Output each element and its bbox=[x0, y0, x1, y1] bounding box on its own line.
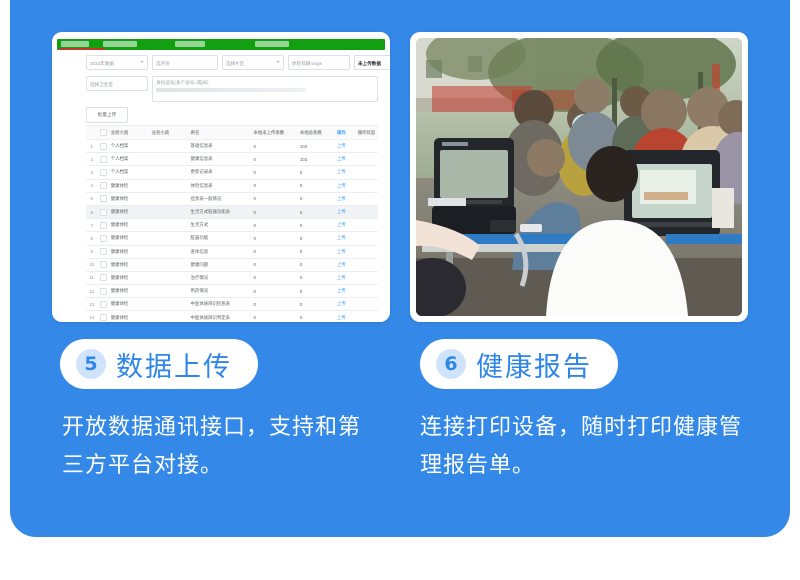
nav-item-0[interactable] bbox=[61, 41, 89, 47]
nav-item-3[interactable] bbox=[255, 41, 289, 47]
app-content: 2024年数据 选月份 选择片区 体检日期range 未上传数据 选择卫生室 身… bbox=[52, 52, 390, 322]
row-table-name: 查体信息 bbox=[189, 249, 252, 255]
row-index: 3 bbox=[86, 170, 97, 175]
row-table-name: 健康信息表 bbox=[189, 156, 252, 162]
row-total-count: 0 bbox=[298, 223, 335, 228]
row-checkbox[interactable] bbox=[97, 169, 108, 176]
row-index: 12 bbox=[86, 289, 97, 294]
row-category: 健康体检 bbox=[109, 275, 150, 281]
row-table-name: 生活方式 bbox=[189, 222, 252, 228]
row-checkbox[interactable] bbox=[97, 156, 108, 163]
row-checkbox[interactable] bbox=[97, 261, 108, 268]
nav-item-1[interactable] bbox=[103, 41, 137, 47]
row-upload-link[interactable]: 上传 bbox=[335, 315, 356, 321]
section-6-title-pill: 6 健康报告 bbox=[420, 339, 618, 389]
promo-page: 2024年数据 选月份 选择片区 体检日期range 未上传数据 选择卫生室 身… bbox=[0, 0, 800, 580]
row-category: 健康体检 bbox=[109, 222, 150, 228]
row-total-count: 0 bbox=[298, 289, 335, 294]
row-total-count: 0 bbox=[298, 196, 335, 201]
clinic-select[interactable]: 选择卫生室 bbox=[86, 76, 148, 91]
row-pending-count: 0 bbox=[251, 157, 297, 162]
row-total-count: 0 bbox=[298, 210, 335, 215]
area-select[interactable]: 选择片区 bbox=[222, 55, 284, 70]
id-number-textarea[interactable]: 身份证号(多个逗号=隔)如: bbox=[152, 76, 378, 102]
row-pending-count: 0 bbox=[251, 210, 297, 215]
row-category: 健康体检 bbox=[109, 183, 150, 189]
table-row[interactable]: 3个人档案更新记录表00上传 bbox=[86, 166, 378, 179]
section-5-title-pill: 5 数据上传 bbox=[60, 339, 258, 389]
section-6-body: 连接打印设备，随时打印健康管理报告单。 bbox=[420, 409, 750, 485]
table-row[interactable]: 8健康体检脏器功能00上传 bbox=[86, 232, 378, 245]
row-table-name: 脏器功能 bbox=[189, 235, 252, 241]
row-category: 健康体检 bbox=[109, 301, 150, 307]
row-category: 健康体检 bbox=[109, 262, 150, 268]
row-checkbox[interactable] bbox=[97, 274, 108, 281]
row-pending-count: 0 bbox=[251, 302, 297, 307]
th-subcategory: 业务小类 bbox=[150, 130, 189, 136]
id-number-placeholder: 身份证号(多个逗号=隔)如: bbox=[156, 80, 209, 85]
row-table-name: 基础信息表 bbox=[189, 143, 252, 149]
row-index: 5 bbox=[86, 196, 97, 201]
date-range-input[interactable]: 体检日期range bbox=[288, 55, 350, 70]
row-pending-count: 0 bbox=[251, 315, 297, 320]
row-table-name: 用药情况 bbox=[189, 288, 252, 294]
filter-bar: 2024年数据 选月份 选择片区 体检日期range 未上传数据 bbox=[86, 55, 378, 72]
row-index: 14 bbox=[86, 315, 97, 320]
row-index: 7 bbox=[86, 223, 97, 228]
row-upload-link[interactable]: 上传 bbox=[335, 196, 356, 202]
table-row[interactable]: 12健康体检用药情况00上传 bbox=[86, 285, 378, 298]
th-category: 业务大类 bbox=[109, 130, 150, 136]
row-checkbox[interactable] bbox=[97, 248, 108, 255]
section-5-body: 开放数据通讯接口，支持和第三方平台对接。 bbox=[62, 409, 382, 485]
row-checkbox[interactable] bbox=[97, 143, 108, 150]
table-row[interactable]: 7健康体检生活方式00上传 bbox=[86, 219, 378, 232]
table-row[interactable]: 9健康体检查体信息00上传 bbox=[86, 246, 378, 259]
section-6-number: 6 bbox=[436, 349, 466, 379]
row-index: 8 bbox=[86, 236, 97, 241]
select-all-checkbox[interactable] bbox=[97, 129, 108, 136]
row-pending-count: 0 bbox=[251, 144, 297, 149]
app-navbar bbox=[57, 39, 385, 50]
batch-upload-button[interactable]: 批量上传 bbox=[86, 107, 128, 123]
row-category: 健康体检 bbox=[109, 209, 150, 215]
row-total-count: 0 bbox=[298, 262, 335, 267]
upload-status-select[interactable]: 未上传数据 bbox=[354, 55, 390, 70]
row-checkbox[interactable] bbox=[97, 222, 108, 229]
row-checkbox[interactable] bbox=[97, 195, 108, 202]
section-6-title: 健康报告 bbox=[476, 345, 592, 384]
table-body: 1个人档案基础信息表0103上传2个人档案健康信息表0103上传3个人档案更新记… bbox=[86, 140, 378, 322]
row-table-name: 治疗情况 bbox=[189, 275, 252, 281]
row-table-name: 体检信息表 bbox=[189, 183, 252, 189]
row-table-name: 中医体质辨识检查表 bbox=[189, 301, 252, 307]
row-index: 1 bbox=[86, 144, 97, 149]
row-upload-link[interactable]: 上传 bbox=[335, 169, 356, 175]
row-index: 11 bbox=[86, 275, 97, 280]
th-pending: 本地未上传条数 bbox=[251, 130, 297, 136]
row-upload-link[interactable]: 上传 bbox=[335, 275, 356, 281]
row-total-count: 0 bbox=[298, 302, 335, 307]
row-upload-link[interactable]: 上传 bbox=[335, 288, 356, 294]
row-category: 个人档案 bbox=[109, 169, 150, 175]
year-select[interactable]: 2024年数据 bbox=[86, 55, 148, 70]
row-category: 健康体检 bbox=[109, 315, 150, 321]
row-category: 健康体检 bbox=[109, 235, 150, 241]
app-screenshot-card: 2024年数据 选月份 选择片区 体检日期range 未上传数据 选择卫生室 身… bbox=[52, 32, 390, 322]
row-category: 健康体检 bbox=[109, 288, 150, 294]
row-upload-link[interactable]: 上传 bbox=[335, 143, 356, 149]
row-pending-count: 0 bbox=[251, 223, 297, 228]
table-row[interactable]: 11健康体检治疗情况00上传 bbox=[86, 272, 378, 285]
row-total-count: 103 bbox=[298, 157, 335, 162]
table-row[interactable]: 14健康体检中医体质辨识判定表00上传 bbox=[86, 311, 378, 322]
row-index: 4 bbox=[86, 183, 97, 188]
row-table-name: 健康问题 bbox=[189, 262, 252, 268]
table-row[interactable]: 2个人档案健康信息表0103上传 bbox=[86, 153, 378, 166]
data-upload-app: 2024年数据 选月份 选择片区 体检日期range 未上传数据 选择卫生室 身… bbox=[52, 32, 390, 322]
nav-active-underline bbox=[59, 48, 105, 50]
th-total: 本地总条数 bbox=[298, 130, 335, 136]
row-checkbox[interactable] bbox=[97, 182, 108, 189]
row-total-count: 0 bbox=[298, 183, 335, 188]
id-search-row: 选择卫生室 身份证号(多个逗号=隔)如: bbox=[86, 76, 378, 102]
section-5-number: 5 bbox=[76, 349, 106, 379]
row-total-count: 0 bbox=[298, 249, 335, 254]
th-table-name: 表名 bbox=[189, 130, 252, 136]
row-index: 9 bbox=[86, 249, 97, 254]
row-table-name: 更新记录表 bbox=[189, 169, 252, 175]
row-upload-link[interactable]: 上传 bbox=[335, 222, 356, 228]
table-row[interactable]: 10健康体检健康问题00上传 bbox=[86, 259, 378, 272]
row-index: 10 bbox=[86, 262, 97, 267]
upload-table: 业务大类 业务小类 表名 本地未上传条数 本地总条数 操作 操作状态 1个人档案… bbox=[86, 125, 378, 315]
row-upload-link[interactable]: 上传 bbox=[335, 235, 356, 241]
row-total-count: 0 bbox=[298, 275, 335, 280]
table-row[interactable]: 4健康体检体检信息表00上传 bbox=[86, 180, 378, 193]
row-upload-link[interactable]: 上传 bbox=[335, 183, 356, 189]
row-checkbox[interactable] bbox=[97, 209, 108, 216]
row-upload-link[interactable]: 上传 bbox=[335, 249, 356, 255]
nav-item-2[interactable] bbox=[175, 41, 205, 47]
month-select[interactable]: 选月份 bbox=[152, 55, 218, 70]
row-pending-count: 0 bbox=[251, 183, 297, 188]
row-upload-link[interactable]: 上传 bbox=[335, 209, 356, 215]
photo-card bbox=[410, 32, 748, 322]
th-status: 操作状态 bbox=[356, 130, 378, 136]
row-index: 2 bbox=[86, 157, 97, 162]
row-pending-count: 0 bbox=[251, 275, 297, 280]
row-total-count: 103 bbox=[298, 144, 335, 149]
id-text-blur bbox=[156, 88, 306, 92]
row-checkbox[interactable] bbox=[97, 314, 108, 321]
row-category: 健康体检 bbox=[109, 196, 150, 202]
row-checkbox[interactable] bbox=[97, 288, 108, 295]
row-upload-link[interactable]: 上传 bbox=[335, 262, 356, 268]
row-upload-link[interactable]: 上传 bbox=[335, 156, 356, 162]
row-pending-count: 0 bbox=[251, 196, 297, 201]
row-category: 健康体检 bbox=[109, 249, 150, 255]
row-total-count: 0 bbox=[298, 236, 335, 241]
row-index: 13 bbox=[86, 302, 97, 307]
table-row[interactable]: 13健康体检中医体质辨识检查表00上传 bbox=[86, 298, 378, 311]
section-5-title: 数据上传 bbox=[116, 345, 232, 384]
table-row[interactable]: 5健康体检症状表一般情况00上传 bbox=[86, 193, 378, 206]
table-row[interactable]: 1个人档案基础信息表0103上传 bbox=[86, 140, 378, 153]
row-pending-count: 0 bbox=[251, 170, 297, 175]
th-operation: 操作 bbox=[335, 130, 356, 136]
table-row[interactable]: 6健康体检生活方式脏器功能表00上传 bbox=[86, 206, 378, 219]
row-pending-count: 0 bbox=[251, 236, 297, 241]
row-pending-count: 0 bbox=[251, 249, 297, 254]
row-table-name: 生活方式脏器功能表 bbox=[189, 209, 252, 215]
row-checkbox[interactable] bbox=[97, 235, 108, 242]
row-checkbox[interactable] bbox=[97, 301, 108, 308]
row-table-name: 中医体质辨识判定表 bbox=[189, 315, 252, 321]
row-table-name: 症状表一般情况 bbox=[189, 196, 252, 202]
row-index: 6 bbox=[86, 210, 97, 215]
row-total-count: 0 bbox=[298, 315, 335, 320]
table-header-row: 业务大类 业务小类 表名 本地未上传条数 本地总条数 操作 操作状态 bbox=[86, 126, 378, 140]
row-category: 个人档案 bbox=[109, 156, 150, 162]
row-upload-link[interactable]: 上传 bbox=[335, 301, 356, 307]
row-pending-count: 0 bbox=[251, 262, 297, 267]
health-screening-photo bbox=[416, 38, 742, 316]
row-pending-count: 0 bbox=[251, 289, 297, 294]
row-category: 个人档案 bbox=[109, 143, 150, 149]
row-total-count: 0 bbox=[298, 170, 335, 175]
